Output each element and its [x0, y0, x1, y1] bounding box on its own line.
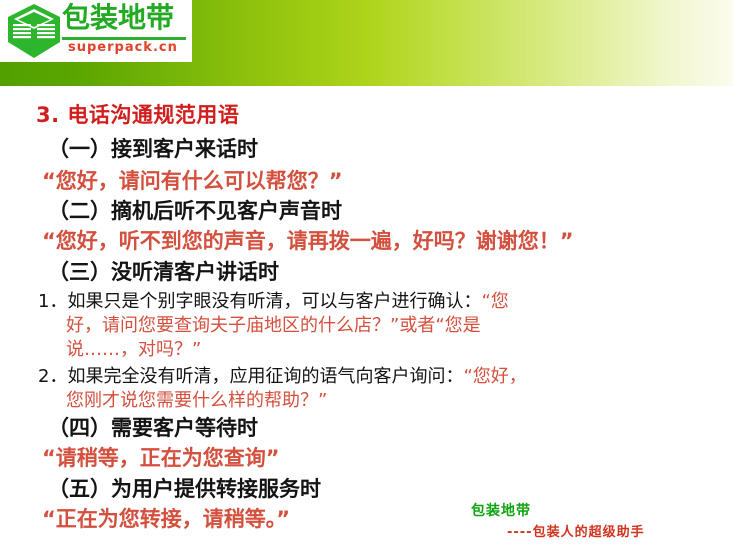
logo-brand-text: 包装地带 [62, 1, 174, 35]
item-2-black-text: 2．如果完全没有听清，应用征询的语气向客户询问： [38, 366, 463, 387]
watermark-brand: 包装地带 [471, 500, 531, 520]
green-box-logo-icon [6, 2, 62, 60]
page-title: 3. 电话沟通规范用语 [36, 99, 239, 129]
item-1-black-text: 1．如果只是个别字眼没有听清，可以与客户进行确认： [38, 291, 481, 312]
section-quote-2: “您好，听不到您的声音，请再拨一遍，好吗？谢谢您！” [42, 225, 574, 255]
section-title-1: （一）接到客户来话时 [48, 133, 258, 163]
section-3-item-2-line-1: 2．如果完全没有听清，应用征询的语气向客户询问：“您好， [38, 362, 527, 388]
footer-watermark: 包装地带 ----包装人的超级助手 [457, 500, 725, 544]
slide-content: 3. 电话沟通规范用语 （一）接到客户来话时 “您好，请问有什么可以帮您？” （… [0, 86, 733, 550]
section-quote-4: “请稍等，正在为您查询” [42, 442, 280, 472]
section-3-item-1-line-1: 1．如果只是个别字眼没有听清，可以与客户进行确认：“您 [38, 287, 509, 313]
section-3-item-1-line-2: 好，请问您要查询夫子庙地区的什么店？”或者“您是 [66, 311, 481, 337]
section-title-2: （二）摘机后听不见客户声音时 [48, 195, 342, 225]
item-1-red-tail: “您 [481, 291, 508, 312]
section-quote-5: “正在为您转接，请稍等。” [42, 503, 290, 533]
section-title-5: （五）为用户提供转接服务时 [48, 473, 321, 503]
logo-text-group: 包装地带 superpack.cn [62, 0, 192, 62]
logo-url-text: superpack.cn [68, 40, 178, 55]
section-3-item-2-line-2: 您刚才说您需要什么样的帮助？” [66, 386, 327, 412]
section-title-4: （四）需要客户等待时 [48, 412, 258, 442]
logo-box: 包装地带 superpack.cn [0, 0, 192, 62]
section-quote-1: “您好，请问有什么可以帮您？” [42, 165, 343, 195]
item-2-red-tail: “您好， [463, 366, 526, 387]
section-3-item-1-line-3: 说……，对吗？” [66, 335, 201, 361]
slide-canvas: 包装地带 superpack.cn 3. 电话沟通规范用语 （一）接到客户来话时… [0, 0, 733, 550]
watermark-tagline: ----包装人的超级助手 [507, 521, 645, 540]
section-title-3: （三）没听清客户讲话时 [48, 256, 279, 286]
